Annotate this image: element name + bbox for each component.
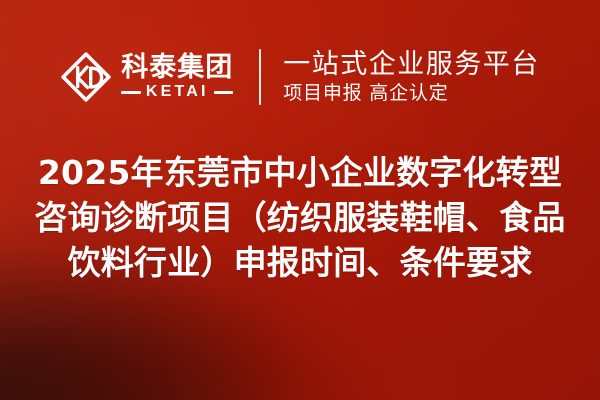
headline-title: 2025年东莞市中小企业数字化转型咨询诊断项目（纺织服装鞋帽、食品饮料行业）申报…: [0, 150, 600, 285]
tagline-primary: 一站式企业服务平台: [283, 50, 540, 79]
ketai-diamond-kd-logo-icon: [60, 51, 112, 103]
brand-wordmark: 科泰集团 KETAI: [121, 54, 233, 101]
tagline-secondary: 项目申报 高企认定: [283, 83, 540, 104]
wordmark-rule-right: [214, 91, 234, 94]
brand-header: 科泰集团 KETAI 一站式企业服务平台 项目申报 高企认定: [0, 38, 600, 116]
brand-name-en: KETAI: [146, 84, 209, 100]
brand-name-en-row: KETAI: [121, 84, 233, 100]
banner-image: 科泰集团 KETAI 一站式企业服务平台 项目申报 高企认定 2025年东莞市中…: [0, 0, 600, 400]
brand-name-cn: 科泰集团: [121, 54, 233, 82]
brand-divider: [259, 49, 261, 105]
brand-logo-group: 科泰集团 KETAI: [60, 51, 233, 103]
wordmark-rule-left: [121, 91, 141, 94]
tagline-group: 一站式企业服务平台 项目申报 高企认定: [283, 50, 540, 104]
